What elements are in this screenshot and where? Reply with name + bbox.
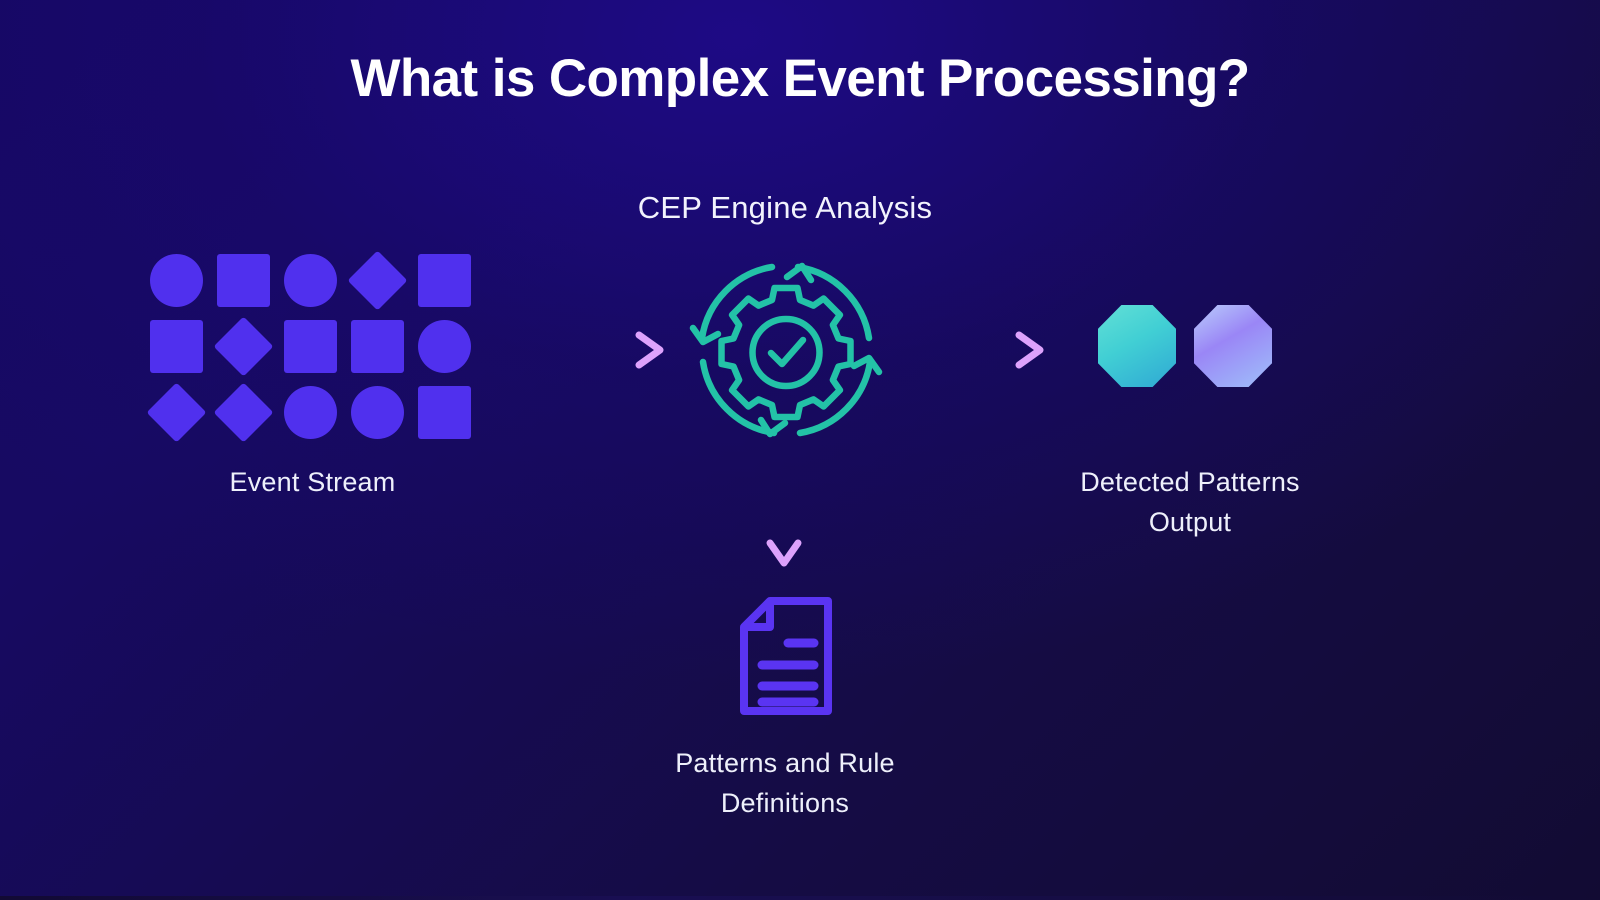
diagram-canvas: What is Complex Event Processing? CEP En… — [0, 0, 1600, 900]
node-label-line2: Output — [1020, 502, 1360, 542]
arrow-engine-to-rules — [758, 462, 810, 570]
event-shape-diamond — [214, 317, 274, 377]
event-shape-diamond — [214, 383, 274, 443]
arrow-engine-to-output — [900, 330, 1050, 370]
event-shape-square — [351, 320, 404, 373]
node-label-line1: Detected Patterns — [1020, 462, 1360, 502]
event-shape-square — [418, 386, 471, 439]
node-label-line1: Patterns and Rule — [610, 743, 960, 783]
event-shape-square — [418, 254, 471, 307]
event-shape-circle — [351, 386, 404, 439]
node-label-cep-engine: CEP Engine Analysis — [585, 188, 985, 228]
shape-grid-row — [150, 385, 470, 441]
event-shape-circle — [150, 254, 203, 307]
shape-grid-row — [150, 319, 470, 375]
shape-grid-row — [150, 253, 470, 309]
pattern-octagon — [1098, 305, 1176, 387]
event-shape-square — [284, 320, 337, 373]
page-title: What is Complex Event Processing? — [0, 48, 1600, 109]
event-shape-diamond — [348, 251, 408, 311]
octagon-pair-icon — [1098, 305, 1278, 390]
event-shape-square — [217, 254, 270, 307]
event-shape-circle — [284, 254, 337, 307]
event-shape-circle — [418, 320, 471, 373]
gear-check-cycle-icon — [688, 252, 884, 448]
node-label-detected-patterns: Detected Patterns Output — [1020, 462, 1360, 542]
event-shape-diamond — [147, 383, 207, 443]
shape-grid-icon — [150, 253, 470, 439]
node-label-event-stream: Event Stream — [150, 462, 475, 502]
document-lines-icon — [740, 597, 832, 715]
node-label-rules: Patterns and Rule Definitions — [610, 743, 960, 823]
event-shape-circle — [284, 386, 337, 439]
event-shape-square — [150, 320, 203, 373]
pattern-octagon — [1194, 305, 1272, 387]
node-label-line2: Definitions — [610, 783, 960, 823]
arrow-stream-to-engine — [520, 330, 670, 370]
